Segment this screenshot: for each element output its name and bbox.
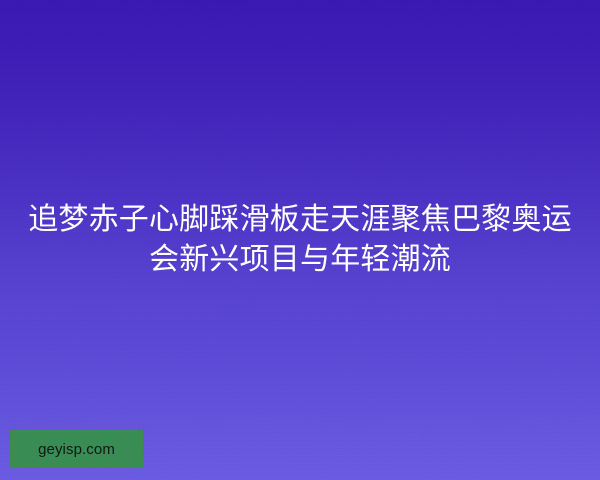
headline-block: 追梦赤子心脚踩滑板走天涯聚焦巴黎奥运 会新兴项目与年轻潮流	[0, 0, 600, 480]
watermark-badge: geyisp.com	[10, 430, 143, 468]
watermark-text: geyisp.com	[38, 442, 115, 457]
banner-image: 追梦赤子心脚踩滑板走天涯聚焦巴黎奥运 会新兴项目与年轻潮流 geyisp.com	[0, 0, 600, 480]
headline-line-1: 追梦赤子心脚踩滑板走天涯聚焦巴黎奥运	[28, 200, 572, 240]
headline-line-2: 会新兴项目与年轻潮流	[149, 240, 451, 280]
